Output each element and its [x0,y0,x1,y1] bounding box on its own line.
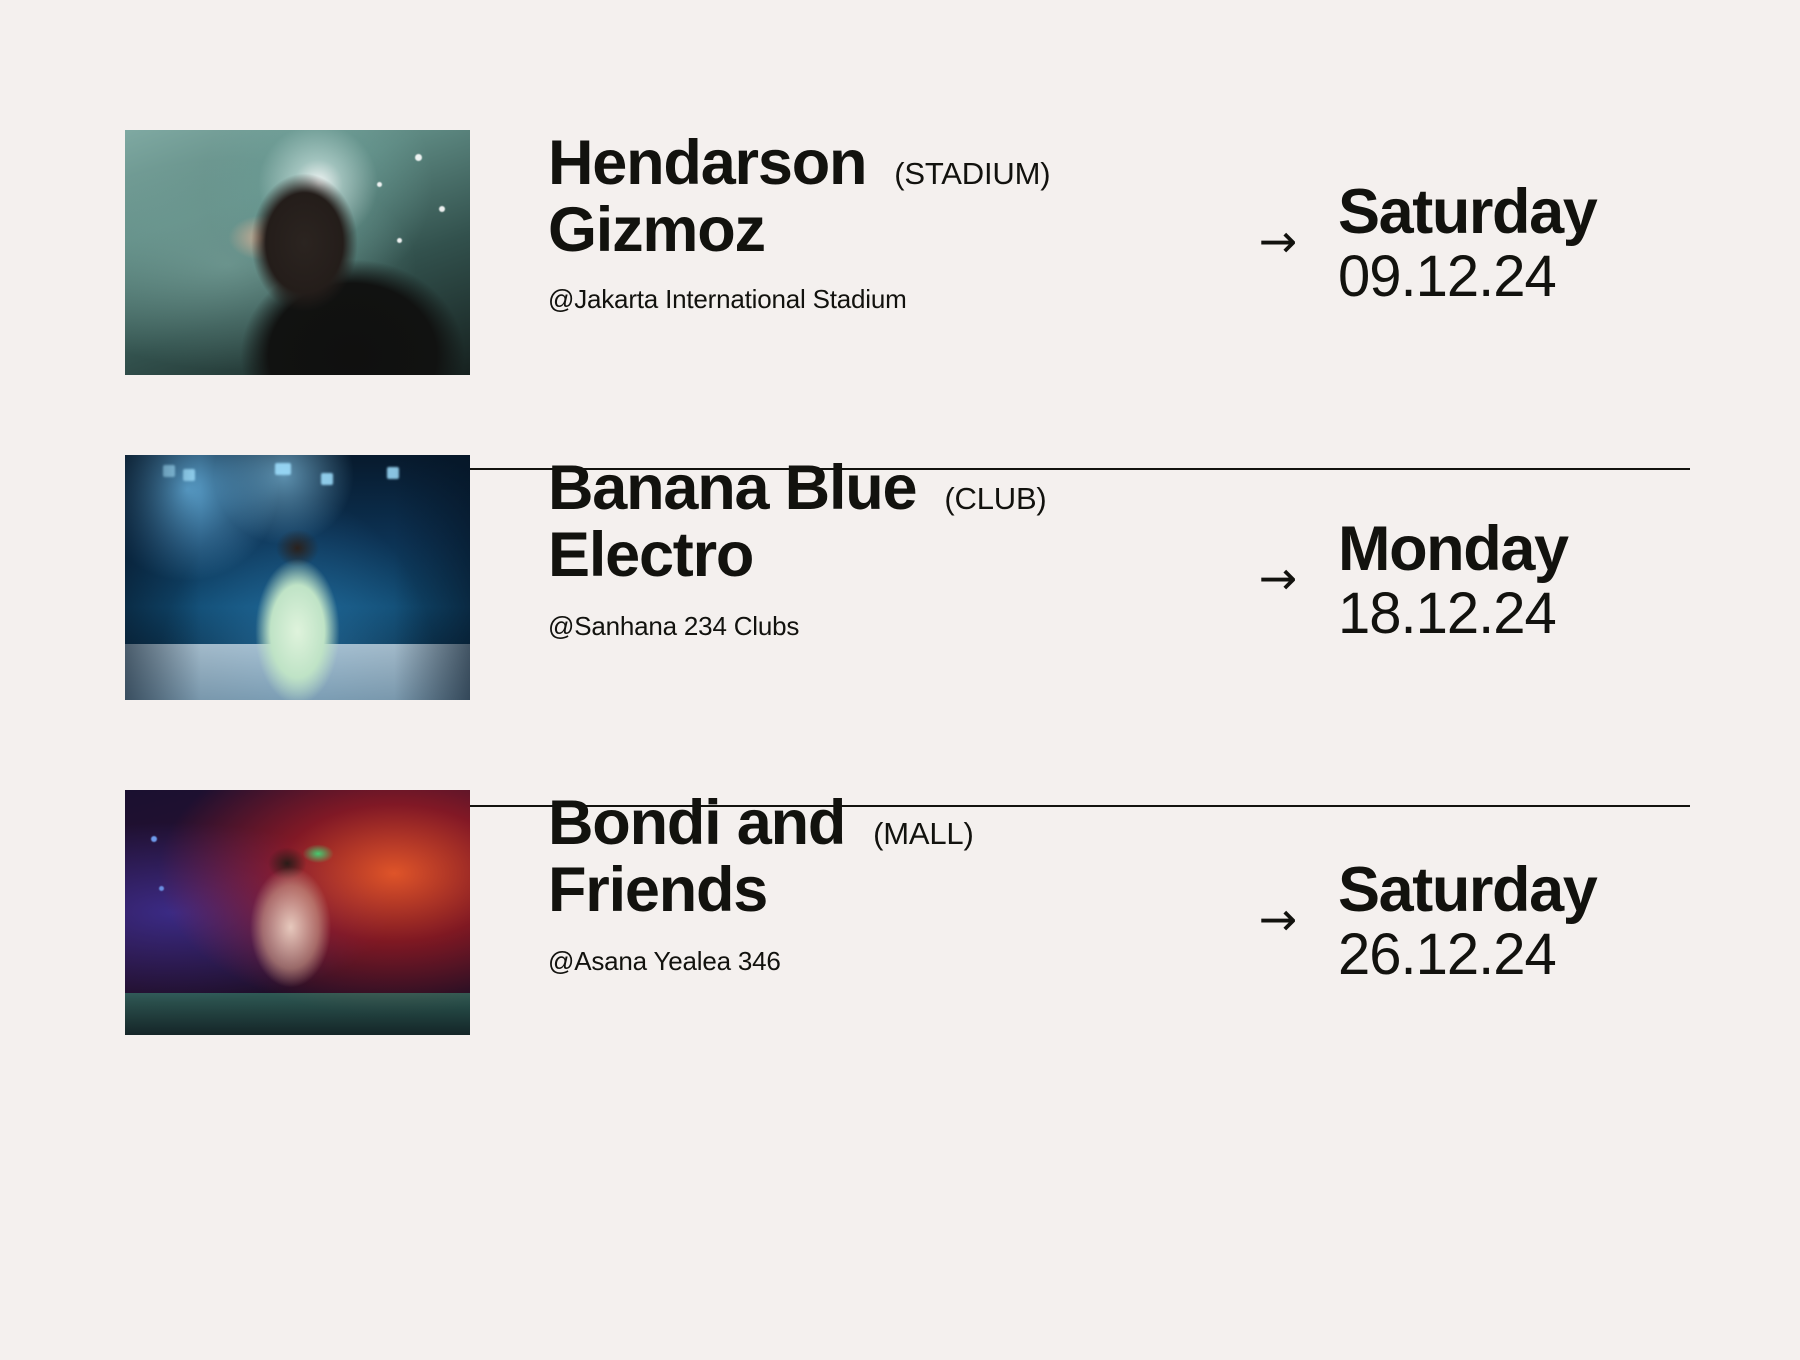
artist-name: HendarsonGizmoz [548,130,866,264]
event-info: HendarsonGizmoz (STADIUM) @Jakarta Inter… [548,130,1218,315]
event-schedule-list: HendarsonGizmoz (STADIUM) @Jakarta Inter… [0,0,1800,1360]
light-speck-icon [159,886,164,891]
artist-name: Banana BlueElectro [548,455,916,589]
stage-light-icon [163,465,175,477]
dj-teal-smoke-headphones-photo [125,130,470,375]
event-day: Saturday [1338,180,1800,246]
dj-table-icon [125,993,470,1035]
event-row[interactable]: Bondi andFriends (MALL) @Asana Yealea 34… [0,790,1800,1080]
light-speck-icon [439,206,445,212]
artist-name-line: HendarsonGizmoz (STADIUM) [548,130,1218,264]
event-day: Monday [1338,517,1800,583]
event-thumbnail[interactable] [125,130,470,375]
stage-light-icon [275,463,291,475]
artist-name: Bondi andFriends [548,790,845,924]
venue-type-tag: (MALL) [873,816,973,852]
artist-name-line: Banana BlueElectro (CLUB) [548,455,1218,589]
light-speck-icon [151,836,157,842]
event-info: Banana BlueElectro (CLUB) @Sanhana 234 C… [548,455,1218,642]
event-date-number: 18.12.24 [1338,583,1800,644]
stage-light-icon [183,469,195,481]
event-thumbnail[interactable] [125,455,470,700]
event-thumbnail[interactable] [125,790,470,1035]
event-date-number: 26.12.24 [1338,924,1800,985]
venue-type-tag: (STADIUM) [894,156,1050,192]
arrow-right-icon: → [1259,896,1298,942]
stage-light-icon [321,473,333,485]
light-speck-icon [397,238,402,243]
stage-light-icon [387,467,399,479]
light-speck-icon [415,154,422,161]
dj-deck-icon [125,644,470,700]
artist-name-line: Bondi andFriends (MALL) [548,790,1218,924]
event-date: Saturday 26.12.24 [1338,790,1800,985]
venue-type-tag: (CLUB) [944,481,1046,517]
event-row[interactable]: Banana BlueElectro (CLUB) @Sanhana 234 C… [0,455,1800,745]
event-row[interactable]: HendarsonGizmoz (STADIUM) @Jakarta Inter… [0,130,1800,420]
event-date-number: 09.12.24 [1338,246,1800,307]
arrow-cell: → [1218,130,1338,264]
venue-location: @Asana Yealea 346 [548,946,1218,977]
venue-location: @Sanhana 234 Clubs [548,611,1218,642]
venue-location: @Jakarta International Stadium [548,284,1218,315]
light-speck-icon [377,182,382,187]
arrow-cell: → [1218,455,1338,601]
dj-red-neon-female-photo [125,790,470,1035]
club-blue-crowd-dj-photo [125,455,470,700]
event-info: Bondi andFriends (MALL) @Asana Yealea 34… [548,790,1218,977]
event-date: Saturday 09.12.24 [1338,130,1800,307]
arrow-right-icon: → [1259,555,1298,601]
arrow-right-icon: → [1259,218,1298,264]
event-date: Monday 18.12.24 [1338,455,1800,644]
event-day: Saturday [1338,858,1800,924]
arrow-cell: → [1218,790,1338,942]
